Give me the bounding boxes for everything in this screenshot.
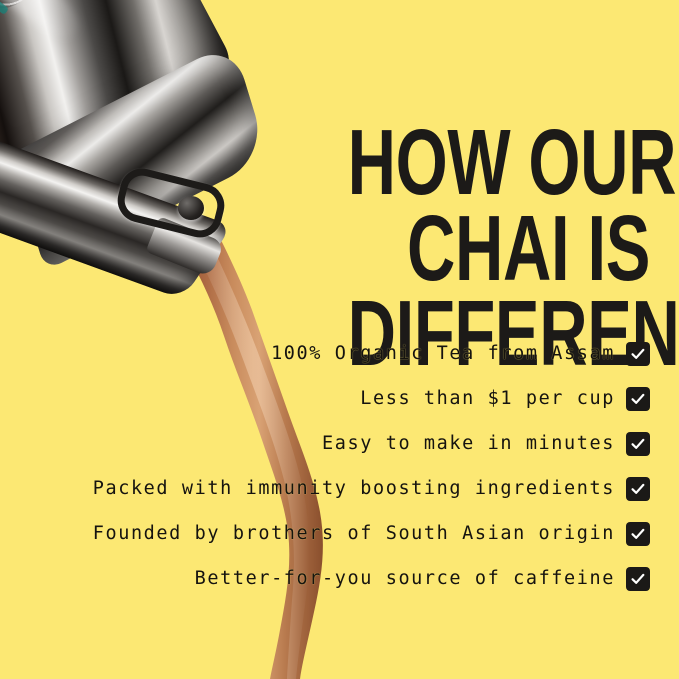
kettle-body — [0, 0, 241, 203]
list-item: Less than $1 per cup — [10, 376, 650, 421]
list-item: 100% Organic Tea from Assam — [10, 331, 650, 376]
feature-label: Less than $1 per cup — [360, 388, 615, 409]
kettle-lid-rings — [0, 0, 51, 21]
list-item: Better-for-you source of caffeine — [10, 556, 650, 601]
list-item: Founded by brothers of South Asian origi… — [10, 511, 650, 556]
checkmark-icon — [626, 477, 650, 501]
product-infographic-poster: HOW OUR CHAI IS DIFFERENT 100% Organic T… — [0, 0, 679, 679]
checkmark-icon — [626, 387, 650, 411]
feature-label: 100% Organic Tea from Assam — [271, 343, 615, 364]
kettle-spout-neck — [0, 139, 232, 300]
kettle-spout-tip — [145, 216, 224, 277]
checkmark-icon — [626, 342, 650, 366]
feature-label: Packed with immunity boosting ingredient… — [93, 478, 615, 499]
headline-line-1: HOW OUR — [348, 120, 650, 206]
kettle-handle — [113, 164, 229, 242]
list-item: Packed with immunity boosting ingredient… — [10, 466, 650, 511]
kettle-teal-accent — [0, 0, 9, 15]
kettle-shoulder — [10, 41, 268, 271]
kettle-specular-highlight — [0, 0, 88, 48]
feature-list: 100% Organic Tea from Assam Less than $1… — [10, 331, 650, 601]
checkmark-icon — [626, 567, 650, 591]
list-item: Easy to make in minutes — [10, 421, 650, 466]
feature-label: Easy to make in minutes — [322, 433, 615, 454]
checkmark-icon — [626, 432, 650, 456]
checkmark-icon — [626, 522, 650, 546]
headline-line-2: CHAI IS — [348, 206, 650, 292]
kettle-handle-knob — [178, 196, 204, 220]
feature-label: Founded by brothers of South Asian origi… — [93, 523, 615, 544]
feature-label: Better-for-you source of caffeine — [195, 568, 615, 589]
